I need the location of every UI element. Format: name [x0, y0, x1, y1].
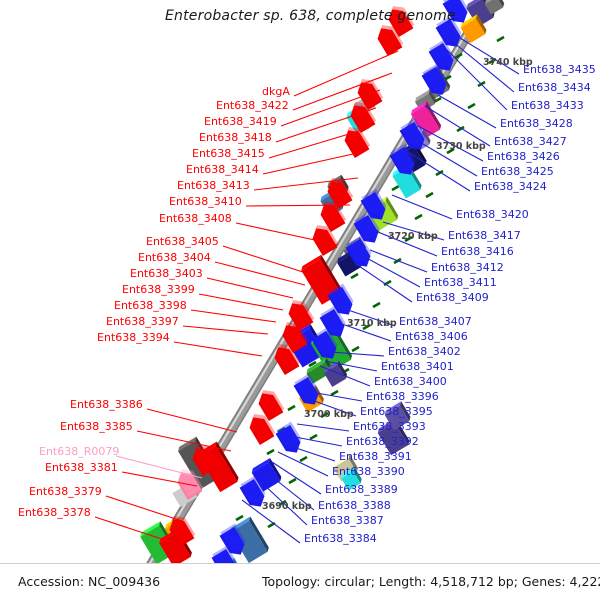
- tick-mark: [226, 538, 233, 542]
- leader-line: [191, 310, 276, 322]
- gene-box-side: [435, 65, 452, 90]
- gene-box-side: [324, 358, 335, 373]
- tick-mark: [382, 208, 389, 212]
- gene-label-ent638_3405[interactable]: Ent638_3405: [146, 236, 219, 247]
- leader-line: [199, 294, 283, 310]
- reverse-strand-arrow[interactable]: [188, 441, 220, 476]
- gene-box-face[interactable]: [485, 0, 503, 15]
- forward-strand-arrow[interactable]: [310, 328, 342, 363]
- reverse-strand-arrow[interactable]: [316, 197, 348, 232]
- tick-mark: [310, 435, 317, 439]
- gene-box[interactable]: [309, 326, 353, 373]
- gene-box[interactable]: [342, 237, 368, 261]
- forward-strand-arrow-hl: [320, 306, 348, 338]
- leader-line: [122, 472, 197, 486]
- forward-strand-arrow-face[interactable]: [276, 425, 304, 457]
- gene-box-side: [427, 89, 438, 104]
- leader-line: [95, 517, 174, 543]
- gene-box-top: [413, 89, 431, 102]
- gene-box[interactable]: [322, 361, 348, 387]
- forward-strand-arrow[interactable]: [427, 40, 459, 75]
- gene-box-face[interactable]: [343, 241, 365, 261]
- gene-box-top: [345, 105, 363, 118]
- forward-strand-arrow-face[interactable]: [400, 122, 428, 154]
- gene-label-ent638_3403[interactable]: Ent638_3403: [130, 268, 203, 279]
- gene-label-ent638_3398[interactable]: Ent638_3398: [114, 300, 187, 311]
- forward-strand-arrow-face[interactable]: [220, 527, 248, 559]
- gene-box-top: [285, 324, 312, 342]
- forward-strand-arrow[interactable]: [398, 119, 430, 154]
- forward-strand-arrow-hl: [429, 40, 457, 72]
- forward-strand-arrow-face[interactable]: [346, 239, 374, 271]
- gene-box-side: [194, 437, 221, 479]
- gene-box-face[interactable]: [306, 362, 331, 384]
- reverse-strand-arrow[interactable]: [284, 296, 316, 331]
- reverse-strand-arrow[interactable]: [353, 75, 385, 110]
- gene-box-face[interactable]: [367, 201, 397, 231]
- gene-box-side: [267, 458, 283, 481]
- gene-box-face[interactable]: [311, 331, 351, 374]
- gene-box[interactable]: [459, 14, 488, 43]
- tick-mark: [392, 186, 399, 190]
- leader-line: [356, 264, 412, 302]
- gene-box-face[interactable]: [324, 365, 346, 387]
- gene-label-ent638_3410[interactable]: Ent638_3410: [169, 196, 242, 207]
- gene-label-ent638_3396[interactable]: Ent638_3396: [366, 391, 439, 402]
- forward-strand-arrow-face[interactable]: [390, 147, 418, 179]
- gene-box-face[interactable]: [327, 179, 347, 199]
- reverse-strand-arrow-hl: [190, 441, 218, 473]
- forward-strand-arrow[interactable]: [388, 144, 420, 179]
- gene-label-ent638_3420[interactable]: Ent638_3420: [456, 209, 529, 220]
- leader-line: [116, 456, 202, 478]
- gene-box-top: [171, 479, 193, 494]
- gene-box-side: [339, 175, 351, 191]
- leader-line: [276, 108, 376, 142]
- forward-strand-arrow-hl: [312, 328, 340, 360]
- gene-label-ent638_3384[interactable]: Ent638_3384: [304, 533, 377, 544]
- gene-label-ent638_3381[interactable]: Ent638_3381: [45, 462, 118, 473]
- reverse-strand-arrow-hl: [167, 512, 195, 544]
- forward-strand-arrow[interactable]: [344, 236, 376, 271]
- gene-box-top: [459, 14, 479, 28]
- gene-box-top: [298, 385, 318, 399]
- gene-label-ent638_3424[interactable]: Ent638_3424: [474, 181, 547, 192]
- leader-line: [236, 223, 338, 245]
- gene-box-face[interactable]: [411, 106, 440, 139]
- gene-box-top: [158, 528, 180, 543]
- gene-box[interactable]: [285, 324, 327, 367]
- gene-box[interactable]: [406, 128, 432, 153]
- gene-box-top: [409, 101, 428, 114]
- reverse-strand-arrow[interactable]: [165, 512, 197, 547]
- gene-box-side: [421, 128, 433, 144]
- tick-mark: [361, 252, 368, 256]
- gene-label-ent638_3400[interactable]: Ent638_3400: [374, 376, 447, 387]
- gene-box-face[interactable]: [140, 526, 175, 565]
- gene-label-ent638_3408[interactable]: Ent638_3408: [159, 213, 232, 224]
- tick-mark: [478, 9, 485, 13]
- reverse-strand-arrow[interactable]: [254, 386, 286, 421]
- tick-mark: [299, 384, 306, 388]
- reverse-strand-arrow-hl: [355, 75, 383, 107]
- leader-line: [293, 73, 392, 110]
- tick-mark: [267, 450, 274, 454]
- forward-strand-arrow-hl: [354, 212, 382, 244]
- forward-strand-arrow-face[interactable]: [422, 67, 450, 99]
- gene-label-ent638_3394[interactable]: Ent638_3394: [97, 332, 170, 343]
- gene-box-side: [384, 197, 400, 220]
- gene-box-face[interactable]: [337, 254, 361, 277]
- reverse-strand-arrow-face[interactable]: [189, 444, 217, 476]
- tick-mark: [289, 479, 296, 483]
- leader-line: [215, 262, 305, 285]
- gene-box[interactable]: [326, 175, 350, 199]
- reverse-strand-arrow-face[interactable]: [246, 413, 274, 445]
- gene-label-ent638_r0079[interactable]: Ent638_R0079: [39, 446, 119, 457]
- gene-box-top: [229, 517, 252, 533]
- forward-strand-arrow[interactable]: [420, 64, 452, 99]
- reverse-strand-arrow-face[interactable]: [341, 126, 369, 158]
- gene-box-top: [421, 65, 439, 78]
- gene-box-face[interactable]: [400, 146, 426, 174]
- gene-box-top: [342, 237, 362, 251]
- gene-label-ent638_3406[interactable]: Ent638_3406: [395, 331, 468, 342]
- forward-strand-arrow-hl: [400, 119, 428, 151]
- forward-strand-arrow-hl: [361, 189, 389, 221]
- reverse-strand-arrow[interactable]: [278, 318, 310, 353]
- accession-text: Accession: NC_009436: [18, 574, 160, 589]
- gene-label-ent638_3379[interactable]: Ent638_3379: [29, 486, 102, 497]
- gene-box-top: [322, 361, 340, 374]
- reverse-strand-arrow-hl: [272, 340, 300, 372]
- gene-box[interactable]: [483, 0, 506, 15]
- gene-label-ent638_3415[interactable]: Ent638_3415: [192, 148, 265, 159]
- tick-mark: [455, 54, 462, 58]
- gene-label-ent638_3422[interactable]: Ent638_3422: [216, 100, 289, 111]
- gene-box-face[interactable]: [354, 96, 375, 116]
- leader-line: [441, 44, 507, 110]
- reverse-strand-arrow[interactable]: [340, 123, 372, 158]
- gene-label-ent638_3419[interactable]: Ent638_3419: [204, 116, 277, 127]
- leader-line: [147, 409, 237, 432]
- leader-line: [392, 195, 452, 219]
- forward-strand-arrow[interactable]: [318, 306, 350, 341]
- forward-strand-arrow-face[interactable]: [328, 287, 356, 319]
- reverse-strand-arrow[interactable]: [323, 174, 355, 209]
- leader-line: [137, 431, 231, 451]
- gene-box-side: [366, 91, 378, 107]
- gene-box-side: [351, 249, 364, 267]
- gene-label-ent638_3378[interactable]: Ent638_3378: [18, 507, 91, 518]
- tick-mark: [444, 76, 451, 80]
- gene-box-face[interactable]: [165, 522, 185, 543]
- forward-strand-arrow-hl: [422, 64, 450, 96]
- reverse-strand-arrow-hl: [310, 221, 338, 253]
- tick-mark: [468, 104, 475, 108]
- reverse-strand-arrow-hl: [348, 98, 376, 130]
- reverse-strand-arrow-hl: [286, 296, 314, 328]
- leader-line: [281, 90, 380, 126]
- gene-label-ent638_3399[interactable]: Ent638_3399: [122, 284, 195, 295]
- leader-line: [263, 152, 362, 174]
- gene-box-side: [175, 517, 188, 535]
- gene-box[interactable]: [391, 163, 423, 198]
- gene-box-face[interactable]: [320, 193, 342, 216]
- reverse-strand-arrow-face[interactable]: [374, 24, 402, 56]
- leader-line: [425, 106, 490, 146]
- reverse-strand-arrow-face[interactable]: [354, 78, 382, 110]
- gene-box[interactable]: [163, 517, 188, 542]
- gene-label-ent638_3404[interactable]: Ent638_3404: [138, 252, 211, 263]
- gene-box[interactable]: [158, 528, 194, 567]
- gene-label-ent638_3387[interactable]: Ent638_3387: [311, 515, 384, 526]
- gene-box-top: [309, 326, 336, 344]
- gene-box[interactable]: [336, 249, 364, 276]
- gene-label-ent638_3413[interactable]: Ent638_3413: [177, 180, 250, 191]
- gene-box[interactable]: [176, 437, 220, 489]
- reverse-strand-arrow[interactable]: [308, 221, 340, 256]
- forward-strand-arrow[interactable]: [352, 212, 384, 247]
- gene-box-face[interactable]: [199, 446, 238, 492]
- reverse-strand-arrow-hl: [318, 197, 346, 229]
- gene-label-ent638_3426[interactable]: Ent638_3426: [487, 151, 560, 162]
- reverse-strand-arrow-face[interactable]: [317, 200, 345, 232]
- gene-box[interactable]: [139, 521, 179, 564]
- gene-box-face[interactable]: [467, 0, 494, 27]
- reverse-strand-arrow[interactable]: [270, 340, 302, 375]
- reverse-strand-arrow-hl: [256, 386, 284, 418]
- tick-mark: [457, 127, 464, 131]
- forward-strand-arrow[interactable]: [326, 284, 358, 319]
- gene-label-ent638_3391[interactable]: Ent638_3391: [339, 451, 412, 462]
- gene-label-ent638_3397[interactable]: Ent638_3397: [106, 316, 179, 327]
- gene-box[interactable]: [305, 358, 334, 384]
- ruler-mark-3690: 3690 kbp: [262, 501, 312, 512]
- gene-label-ent638_3393[interactable]: Ent638_3393: [353, 421, 426, 432]
- reverse-strand-arrow[interactable]: [173, 465, 205, 500]
- gene-box-side: [332, 189, 346, 209]
- tick-mark: [268, 523, 275, 527]
- tick-mark: [436, 171, 443, 175]
- gene-box-side: [214, 441, 240, 481]
- gene-box-side: [474, 14, 488, 34]
- gene-label-ent638_3418[interactable]: Ent638_3418: [199, 132, 272, 143]
- reverse-strand-arrow-face[interactable]: [279, 321, 307, 353]
- gene-box[interactable]: [365, 197, 400, 232]
- gene-box-face[interactable]: [393, 167, 421, 198]
- gene-box-face[interactable]: [287, 328, 325, 367]
- tick-mark: [394, 259, 401, 263]
- gene-label-ent638_3435[interactable]: Ent638_3435: [523, 64, 596, 75]
- gene-box-side: [480, 0, 496, 18]
- tick-mark: [278, 428, 285, 432]
- gene-box-side: [332, 326, 354, 360]
- gene-label-ent638_3401[interactable]: Ent638_3401: [381, 361, 454, 372]
- gene-box-face[interactable]: [172, 483, 197, 507]
- leader-line: [269, 128, 369, 158]
- leader-line: [320, 366, 370, 386]
- tick-mark: [352, 347, 359, 351]
- reverse-strand-arrow-hl: [247, 410, 275, 442]
- gene-label-ent638_3428[interactable]: Ent638_3428: [500, 118, 573, 129]
- status-bar: Accession: NC_009436 Topology: circular;…: [0, 563, 600, 600]
- reverse-strand-arrow[interactable]: [373, 21, 405, 56]
- gene-box-face[interactable]: [178, 441, 218, 489]
- reverse-strand-arrow-face[interactable]: [174, 468, 202, 500]
- forward-strand-arrow-face[interactable]: [354, 215, 382, 247]
- gene-label-ent638_3385[interactable]: Ent638_3385: [60, 421, 133, 432]
- tick-mark: [415, 215, 422, 219]
- gene-label-ent638_3386[interactable]: Ent638_3386: [70, 399, 143, 410]
- gene-box[interactable]: [171, 479, 201, 507]
- forward-strand-arrow[interactable]: [292, 374, 324, 409]
- gene-box-top: [391, 163, 410, 176]
- gene-box-top: [305, 358, 328, 374]
- gene-box[interactable]: [398, 142, 428, 174]
- gene-box-side: [188, 479, 201, 497]
- gene-box[interactable]: [421, 65, 451, 98]
- gene-box[interactable]: [345, 105, 372, 133]
- reverse-strand-arrow-face[interactable]: [285, 299, 313, 331]
- gene-box-top: [139, 521, 162, 537]
- leader-line: [290, 436, 342, 446]
- forward-strand-arrow[interactable]: [218, 524, 250, 559]
- gene-box[interactable]: [250, 458, 283, 492]
- gene-label-ent638_3409[interactable]: Ent638_3409: [416, 292, 489, 303]
- leader-line: [294, 51, 398, 96]
- gene-box-side: [495, 0, 506, 8]
- reverse-strand-arrow-face[interactable]: [347, 101, 375, 133]
- tick-mark: [246, 494, 253, 498]
- gene-box-face[interactable]: [230, 521, 267, 563]
- gene-box-side: [412, 142, 428, 165]
- reverse-strand-arrow-hl: [342, 123, 370, 155]
- forward-strand-arrow[interactable]: [359, 189, 391, 224]
- gene-box-top: [300, 255, 323, 271]
- gene-box-side: [248, 517, 271, 552]
- gene-label-ent638_3389[interactable]: Ent638_3389: [325, 484, 398, 495]
- tick-mark: [372, 230, 379, 234]
- tick-mark: [340, 296, 347, 300]
- gene-box-top: [163, 517, 179, 529]
- gene-box[interactable]: [413, 89, 437, 112]
- tick-mark: [351, 274, 358, 278]
- gene-box-face[interactable]: [159, 533, 191, 567]
- leader-line: [254, 178, 358, 190]
- gene-label-ent638_3416[interactable]: Ent638_3416: [441, 246, 514, 257]
- tick-mark: [342, 369, 349, 373]
- leader-line: [363, 256, 420, 287]
- gene-box[interactable]: [197, 441, 240, 492]
- gene-box[interactable]: [229, 517, 271, 564]
- reverse-strand-arrow-hl: [375, 21, 403, 53]
- tick-mark: [434, 98, 441, 102]
- gene-box[interactable]: [465, 0, 496, 27]
- gene-box[interactable]: [409, 101, 442, 138]
- tick-mark: [236, 516, 243, 520]
- leader-line: [325, 361, 377, 371]
- gene-label-ent638_3388[interactable]: Ent638_3388: [318, 500, 391, 511]
- tick-mark: [258, 545, 265, 549]
- gene-label-ent638_3411[interactable]: Ent638_3411: [424, 277, 497, 288]
- reverse-strand-arrow-face[interactable]: [271, 343, 299, 375]
- gene-label-ent638_3414[interactable]: Ent638_3414: [186, 164, 259, 175]
- leader-line: [455, 35, 519, 74]
- gene-box-face[interactable]: [301, 259, 340, 305]
- gene-box-face[interactable]: [461, 19, 486, 44]
- gene-label-ent638_3402[interactable]: Ent638_3402: [388, 346, 461, 357]
- gene-label-ent638_3433[interactable]: Ent638_3433: [511, 100, 584, 111]
- leader-line: [370, 250, 427, 272]
- gene-box-side: [318, 255, 343, 294]
- tick-mark: [403, 164, 410, 168]
- gene-box-face[interactable]: [347, 109, 370, 133]
- forward-strand-arrow-face[interactable]: [312, 331, 340, 363]
- gene-label-ent638_3407[interactable]: Ent638_3407: [399, 316, 472, 327]
- tick-mark: [257, 472, 264, 476]
- gene-box[interactable]: [352, 91, 377, 116]
- gene-box-side: [308, 324, 328, 354]
- reverse-strand-arrow-face[interactable]: [309, 224, 337, 256]
- gene-box-face[interactable]: [423, 70, 449, 99]
- reverse-strand-arrow-face[interactable]: [255, 389, 283, 421]
- gene-box[interactable]: [300, 255, 344, 305]
- gene-box-side: [313, 385, 326, 403]
- ruler-mark-3710: 3710 kbp: [347, 318, 397, 329]
- reverse-strand-arrow[interactable]: [346, 98, 378, 133]
- reverse-strand-arrow-hl: [280, 318, 308, 350]
- gene-box-face[interactable]: [415, 94, 435, 113]
- gene-label-ent638_3392[interactable]: Ent638_3392: [346, 436, 419, 447]
- gene-box-face[interactable]: [408, 133, 430, 154]
- tick-mark: [309, 362, 316, 366]
- gene-label-ent638_3395[interactable]: Ent638_3395: [360, 406, 433, 417]
- gene-box-face[interactable]: [252, 462, 280, 491]
- reverse-strand-arrow-hl: [325, 174, 353, 206]
- forward-strand-arrow-face[interactable]: [361, 192, 389, 224]
- forward-strand-arrow-face[interactable]: [294, 377, 322, 409]
- gene-label-ent638_3434[interactable]: Ent638_3434: [518, 82, 591, 93]
- forward-strand-arrow-face[interactable]: [429, 43, 457, 75]
- gene-box-top: [406, 128, 425, 141]
- topology-text: Topology: circular; Length: 4,518,712 bp…: [262, 574, 600, 589]
- gene-box[interactable]: [319, 189, 346, 217]
- gene-label-ent638_3425[interactable]: Ent638_3425: [481, 166, 554, 177]
- leader-line: [246, 205, 350, 206]
- leader-line: [174, 342, 262, 356]
- forward-strand-arrow-hl: [220, 524, 248, 556]
- gene-label-ent638_3390[interactable]: Ent638_3390: [332, 466, 405, 477]
- gene-label-ent638_3417[interactable]: Ent638_3417: [448, 230, 521, 241]
- tick-mark: [497, 37, 504, 41]
- leader-line: [330, 352, 384, 356]
- leader-line: [311, 392, 362, 401]
- reverse-strand-arrow[interactable]: [245, 410, 277, 445]
- gene-label-ent638_3412[interactable]: Ent638_3412: [431, 262, 504, 273]
- gene-label-ent638_3427[interactable]: Ent638_3427: [494, 136, 567, 147]
- forward-strand-arrow-face[interactable]: [320, 309, 348, 341]
- tick-mark: [466, 32, 473, 36]
- gene-label-dkga[interactable]: dkgA: [262, 86, 290, 97]
- tick-mark: [331, 391, 338, 395]
- gene-box-top: [250, 458, 272, 473]
- leader-line: [438, 95, 496, 128]
- forward-strand-arrow[interactable]: [274, 422, 306, 457]
- reverse-strand-arrow-face[interactable]: [166, 515, 194, 547]
- gene-box-side: [405, 163, 423, 190]
- reverse-strand-arrow-face[interactable]: [324, 177, 352, 209]
